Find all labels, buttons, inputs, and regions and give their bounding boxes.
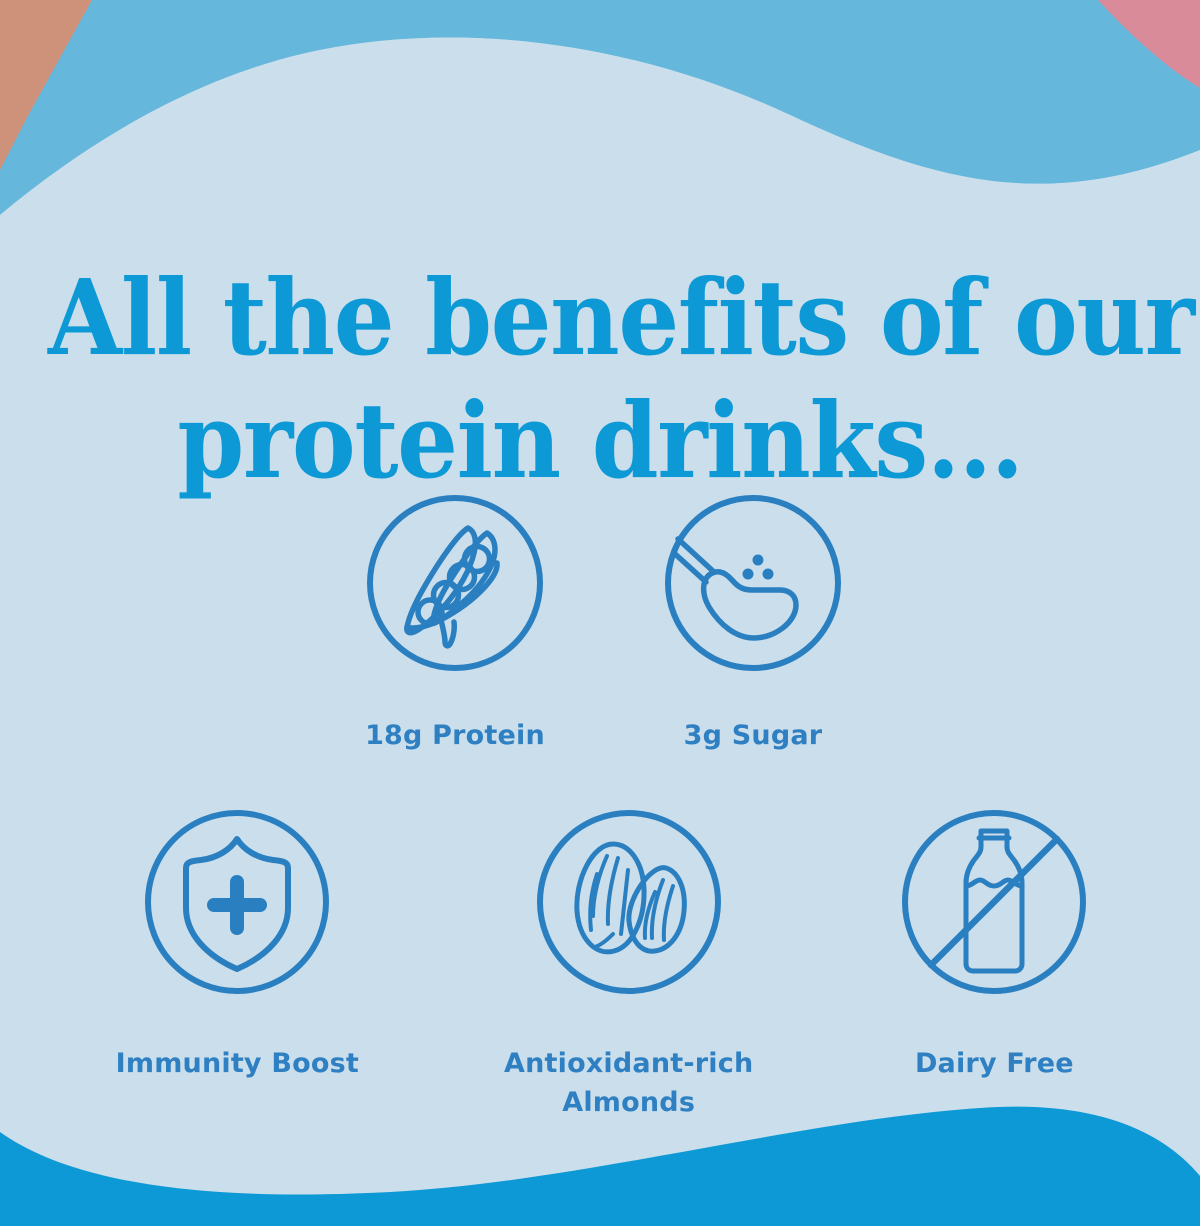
benefits-row-top: 18g Protein 3g Sugar	[0, 492, 1200, 755]
benefit-item-dairy-free: Dairy Free	[898, 806, 1090, 1122]
sugar-spoon-icon	[662, 492, 844, 674]
benefit-item-almonds: Antioxidant-rich Almonds	[504, 806, 753, 1122]
top-wave-band	[0, 0, 1200, 215]
benefit-item-protein: 18g Protein	[364, 492, 546, 755]
almonds-icon	[533, 806, 725, 998]
benefit-label-dairy-free: Dairy Free	[915, 1044, 1074, 1083]
benefits-row-bottom: Immunity Boost	[0, 806, 1200, 1122]
benefit-label-sugar: 3g Sugar	[684, 716, 823, 755]
benefit-item-sugar: 3g Sugar	[662, 492, 844, 755]
benefit-label-protein: 18g Protein	[365, 716, 545, 755]
no-milk-bottle-icon	[898, 806, 1090, 998]
pea-pod-icon	[364, 492, 546, 674]
bottom-wave	[0, 1107, 1200, 1226]
benefits-poster: All the benefits of our protein drinks..…	[0, 0, 1200, 1226]
headline-line-1: All the benefits of our	[48, 256, 1152, 380]
shield-plus-icon	[141, 806, 333, 998]
benefit-label-almonds: Antioxidant-rich Almonds	[504, 1044, 753, 1122]
corner-wedge-tan	[0, 0, 92, 170]
page-title: All the benefits of our protein drinks..…	[48, 256, 1152, 504]
benefit-item-immunity: Immunity Boost	[116, 806, 359, 1122]
headline-line-2: protein drinks...	[48, 379, 1152, 503]
corner-wedge-rose	[1098, 0, 1200, 88]
benefit-label-immunity: Immunity Boost	[116, 1044, 359, 1083]
